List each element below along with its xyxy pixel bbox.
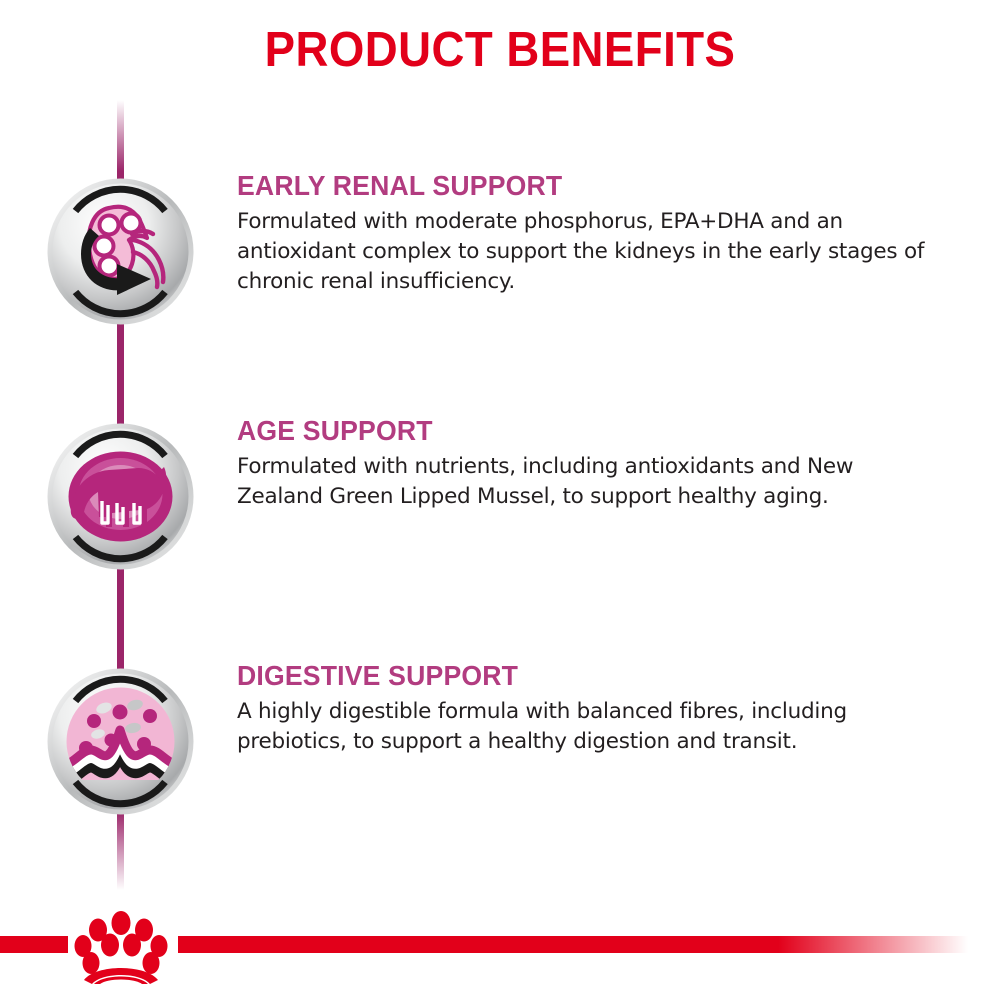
walking-cat-icon [47,423,194,570]
benefit-text-block: AGE SUPPORT Formulated with nutrients, i… [237,415,937,512]
benefit-text-block: DIGESTIVE SUPPORT A highly digestible fo… [237,660,937,757]
footer-rule-left [0,936,68,953]
intestinal-villi-icon [47,668,194,815]
benefit-heading: DIGESTIVE SUPPORT [237,660,902,692]
benefit-description: Formulated with nutrients, including ant… [237,452,927,512]
product-benefits-page: PRODUCT BENEFITS [0,0,1000,1000]
footer-bar [0,890,1000,1000]
page-title: PRODUCT BENEFITS [35,22,965,78]
benefit-description: Formulated with moderate phosphorus, EPA… [237,207,927,297]
kidney-renewal-icon [47,178,194,325]
benefit-description: A highly digestible formula with balance… [237,697,927,757]
royal-canin-crown-logo [66,908,178,984]
benefit-heading: AGE SUPPORT [237,415,902,447]
footer-rule-right [178,936,968,953]
benefit-heading: EARLY RENAL SUPPORT [237,170,902,202]
benefit-text-block: EARLY RENAL SUPPORT Formulated with mode… [237,170,937,297]
